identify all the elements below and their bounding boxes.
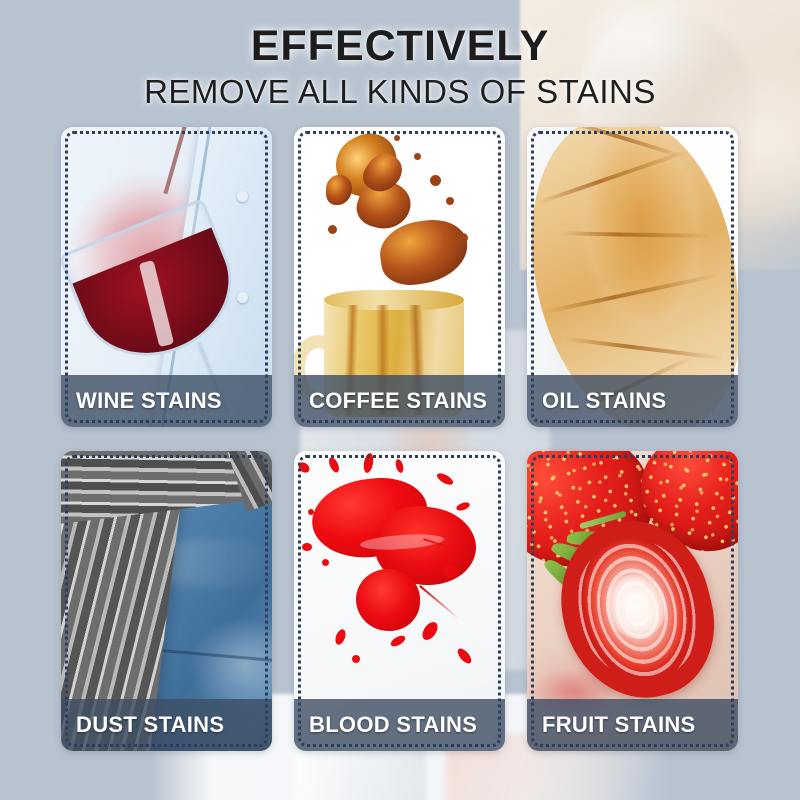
blood-spatter [455,647,473,667]
blood-spatter [297,461,312,476]
page-title: EFFECTIVELY [0,24,800,69]
stain-card-blood[interactable]: BLOOD STAINS [294,451,505,751]
blood-spatter [327,456,341,474]
card-label-bar: FRUIT STAINS [527,699,738,751]
card-label-text: BLOOD STAINS [294,712,477,738]
stain-card-grid: WINE STAINS [61,127,739,751]
card-label-bar: WINE STAINS [61,375,272,427]
card-label-bar: DUST STAINS [61,699,272,751]
coffee-blob [326,175,352,205]
blood-trail [419,586,459,620]
blood-spatter [419,620,440,643]
oil-streak [543,273,720,314]
card-label-text: WINE STAINS [61,388,222,414]
stain-card-fruit[interactable]: FRUIT STAINS [527,451,738,751]
stain-card-coffee[interactable]: COFFEE STAINS [294,127,505,427]
card-label-text: OIL STAINS [527,388,666,414]
blood-spatter [352,655,360,663]
card-label-bar: BLOOD STAINS [294,699,505,751]
oil-streak [568,127,684,158]
page-subtitle: REMOVE ALL KINDS OF STAINS [0,74,800,110]
blood-spatter [389,634,407,649]
blood-spatter [322,559,329,566]
card-label-text: FRUIT STAINS [527,712,696,738]
blood-spatter [334,628,348,646]
coffee-splash-group [322,129,472,279]
coffee-droplet [414,153,421,160]
stain-card-wine[interactable]: WINE STAINS [61,127,272,427]
coffee-droplet [446,197,454,205]
oil-streak [564,337,723,360]
heading-block: EFFECTIVELY REMOVE ALL KINDS OF STAINS [0,0,800,110]
card-label-bar: OIL STAINS [527,375,738,427]
oil-streak [537,149,690,205]
stain-card-dust[interactable]: DUST STAINS [61,451,272,751]
card-label-text: COFFEE STAINS [294,388,487,414]
blood-spatter [435,471,455,487]
blood-spatter [362,453,374,474]
blood-spatter [394,459,404,474]
blood-spatter [302,543,312,551]
card-label-bar: COFFEE STAINS [294,375,505,427]
oil-streak [560,232,710,239]
card-label-text: DUST STAINS [61,712,224,738]
infographic-page: EFFECTIVELY REMOVE ALL KINDS OF STAINS W… [0,0,800,800]
straw-shape [163,127,186,194]
coffee-droplet [394,135,400,141]
stain-card-oil[interactable]: OIL STAINS [527,127,738,427]
coffee-droplet [328,225,337,234]
blood-spatter [455,501,471,512]
coffee-droplet [430,175,441,186]
blood-blob [356,569,420,631]
